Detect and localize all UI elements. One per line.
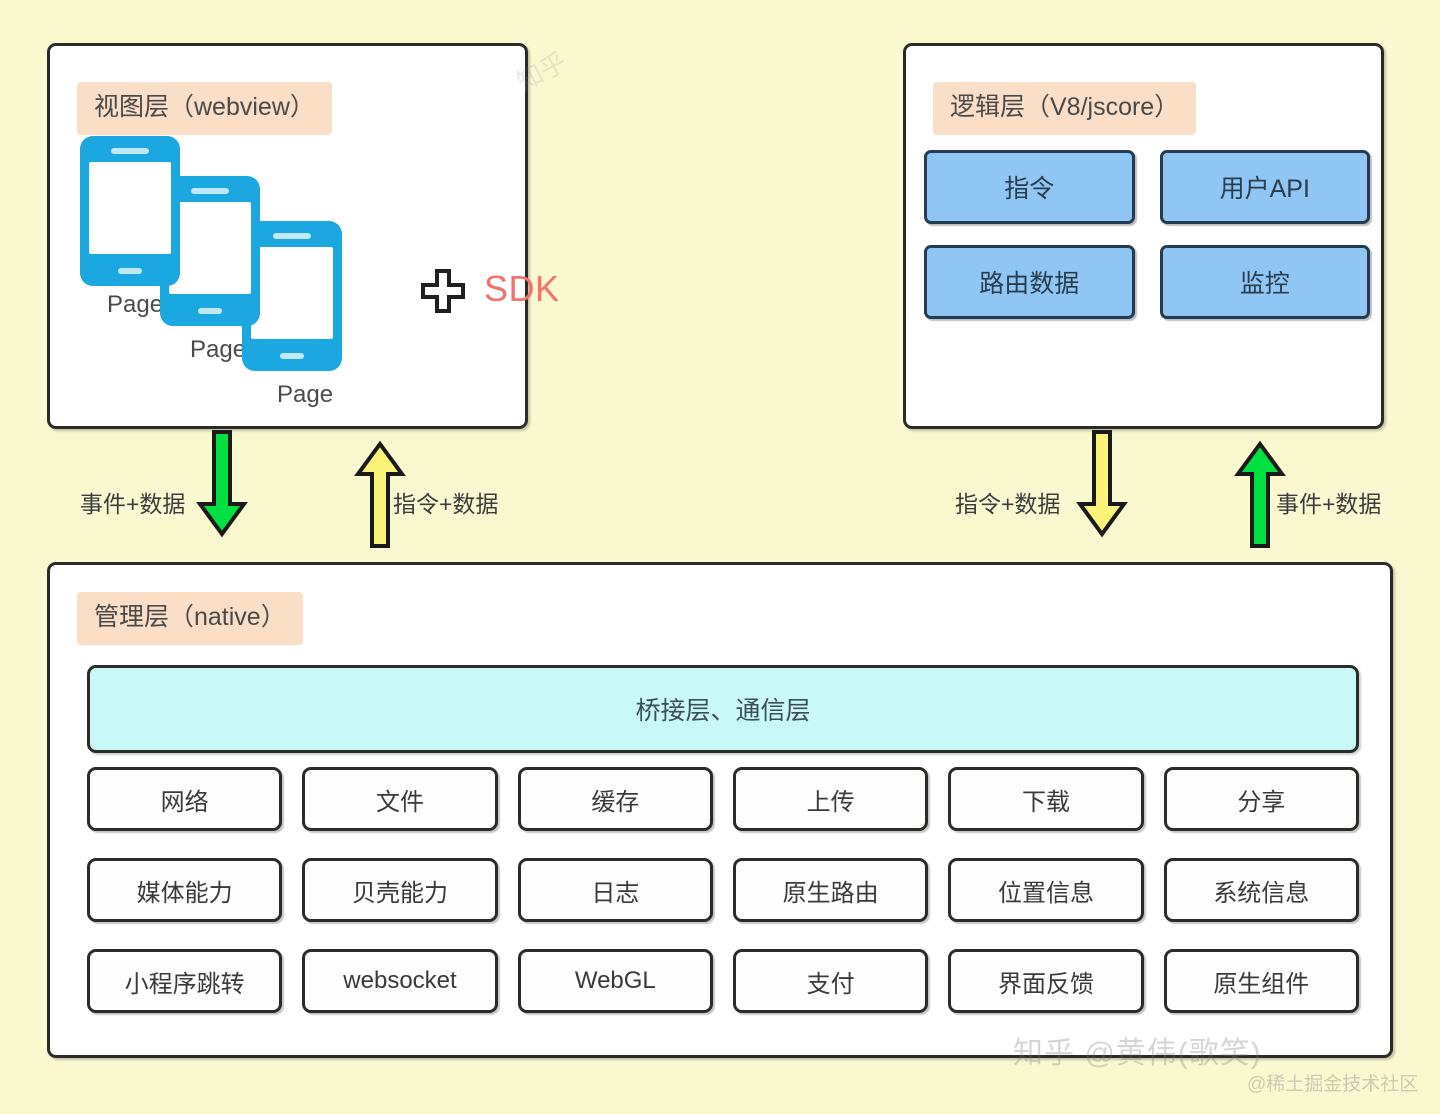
- phone-home-icon: [118, 268, 142, 274]
- native-layer-title-chip: 管理层（native）: [77, 592, 303, 645]
- capability-cell-beike[interactable]: 贝壳能力: [302, 858, 497, 922]
- arrow-view-down-icon: [196, 430, 248, 543]
- capability-cell-share[interactable]: 分享: [1164, 767, 1359, 831]
- phone-home-icon: [280, 353, 304, 359]
- view-layer-title-chip: 视图层（webview）: [77, 82, 332, 135]
- arrow-label-logic-up: 事件+数据: [1276, 485, 1381, 519]
- watermark-juejin: @稀土掘金技术社区: [1247, 1069, 1418, 1096]
- capability-cell-file[interactable]: 文件: [302, 767, 497, 831]
- logic-layer-panel: 逻辑层（V8/jscore） 指令 用户API 路由数据 监控: [903, 43, 1384, 429]
- capability-grid: 网络 文件 缓存 上传 下载 分享 媒体能力 贝壳能力 日志 原生路由 位置信息…: [87, 767, 1359, 1013]
- phone-speaker-icon: [273, 233, 311, 239]
- bridge-communication-bar[interactable]: 桥接层、通信层: [87, 665, 1359, 753]
- logic-box-user-api[interactable]: 用户API: [1160, 150, 1371, 224]
- logic-layer-box-grid: 指令 用户API 路由数据 监控: [924, 150, 1370, 319]
- arrow-label-logic-down: 指令+数据: [955, 485, 1060, 519]
- phone-screen: [169, 202, 251, 294]
- capability-cell-miniapp-jump[interactable]: 小程序跳转: [87, 949, 282, 1013]
- logic-box-monitoring[interactable]: 监控: [1160, 245, 1371, 319]
- arrow-label-view-down: 事件+数据: [80, 485, 185, 519]
- phone-speaker-icon: [191, 188, 229, 194]
- native-layer-panel: 管理层（native） 桥接层、通信层 网络 文件 缓存 上传 下载 分享 媒体…: [47, 562, 1393, 1058]
- capability-cell-websocket[interactable]: websocket: [302, 949, 497, 1013]
- capability-cell-log[interactable]: 日志: [518, 858, 713, 922]
- phone-screen: [251, 247, 333, 339]
- capability-cell-native-route[interactable]: 原生路由: [733, 858, 928, 922]
- phone-screen: [89, 162, 171, 254]
- phone-stack: Page Page Page: [80, 136, 410, 426]
- page-label-2: Page: [190, 336, 246, 364]
- logic-layer-title-chip: 逻辑层（V8/jscore）: [933, 82, 1196, 135]
- capability-cell-ui-feedback[interactable]: 界面反馈: [948, 949, 1143, 1013]
- capability-cell-system-info[interactable]: 系统信息: [1164, 858, 1359, 922]
- capability-cell-webgl[interactable]: WebGL: [518, 949, 713, 1013]
- capability-cell-payment[interactable]: 支付: [733, 949, 928, 1013]
- arrow-logic-down-icon: [1076, 430, 1128, 543]
- plus-icon: [420, 268, 466, 314]
- diagram-canvas: 视图层（webview） Page Page Page: [0, 0, 1440, 1114]
- phone-home-icon: [198, 308, 222, 314]
- capability-cell-cache[interactable]: 缓存: [518, 767, 713, 831]
- capability-cell-native-comp[interactable]: 原生组件: [1164, 949, 1359, 1013]
- capability-cell-download[interactable]: 下载: [948, 767, 1143, 831]
- view-layer-panel: 视图层（webview） Page Page Page: [47, 43, 528, 429]
- logic-box-route-data[interactable]: 路由数据: [924, 245, 1135, 319]
- capability-cell-network[interactable]: 网络: [87, 767, 282, 831]
- arrow-label-view-up: 指令+数据: [393, 485, 498, 519]
- page-label-3: Page: [277, 381, 333, 409]
- phone-speaker-icon: [111, 148, 149, 154]
- phone-icon-1: [80, 136, 180, 286]
- capability-cell-location[interactable]: 位置信息: [948, 858, 1143, 922]
- sdk-label: SDK: [484, 268, 560, 310]
- capability-cell-media[interactable]: 媒体能力: [87, 858, 282, 922]
- logic-box-instruction[interactable]: 指令: [924, 150, 1135, 224]
- capability-cell-upload[interactable]: 上传: [733, 767, 928, 831]
- page-label-1: Page: [107, 291, 163, 319]
